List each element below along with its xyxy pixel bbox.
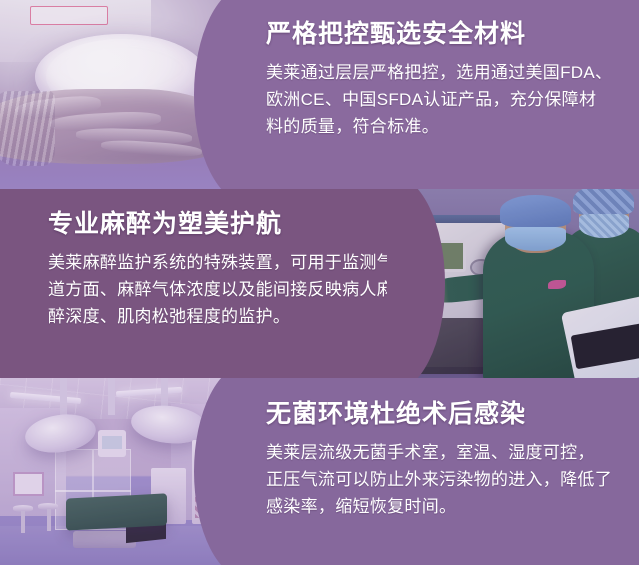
panel-anesthesia-text: 专业麻醉为塑美护航 美莱麻醉监护系统的特殊装置，可用于监测气道方面、麻醉气体浓度… (0, 189, 420, 378)
glove-cuff (0, 91, 55, 167)
panel-materials-heading: 严格把控甄选安全材料 (266, 0, 613, 49)
panel-sterile-heading: 无菌环境杜绝术后感染 (266, 378, 613, 429)
panel-materials: 严格把控甄选安全材料 美莱通过层层严格把控，选用通过美国FDA、欧洲CE、中国S… (0, 0, 639, 189)
panel-anesthesia: 专业麻醉为塑美护航 美莱麻醉监护系统的特殊装置，可用于监测气道方面、麻醉气体浓度… (0, 189, 639, 378)
panel-materials-text: 严格把控甄选安全材料 美莱通过层层严格把控，选用通过美国FDA、欧洲CE、中国S… (250, 0, 639, 189)
panel-sterile-image (0, 378, 252, 565)
panel-sterile: 无菌环境杜绝术后感染 美莱层流级无菌手术室，室温、湿度可控， 正压气流可以防止外… (0, 378, 639, 565)
panel-sterile-body: 美莱层流级无菌手术室，室温、湿度可控， 正压气流可以防止外来污染物的进入，降低了… (266, 429, 613, 520)
panel-anesthesia-image (387, 189, 639, 378)
second-doctor-face-mask (579, 214, 629, 239)
panel-materials-body: 美莱通过层层严格把控，选用通过美国FDA、欧洲CE、中国SFDA认证产品，充分保… (266, 49, 613, 140)
panel-sterile-text: 无菌环境杜绝术后感染 美莱层流级无菌手术室，室温、湿度可控， 正压气流可以防止外… (250, 378, 639, 565)
panel-anesthesia-heading: 专业麻醉为塑美护航 (48, 189, 398, 239)
second-doctor-surgical-cap (573, 189, 633, 215)
doctor-surgical-cap (500, 195, 571, 227)
panel-anesthesia-body: 美莱麻醉监护系统的特殊装置，可用于监测气道方面、麻醉气体浓度以及能间接反映病人麻… (48, 239, 398, 330)
photo-label-card (30, 6, 108, 25)
panel-materials-image (0, 0, 252, 189)
promo-page: 严格把控甄选安全材料 美莱通过层层严格把控，选用通过美国FDA、欧洲CE、中国S… (0, 0, 639, 565)
